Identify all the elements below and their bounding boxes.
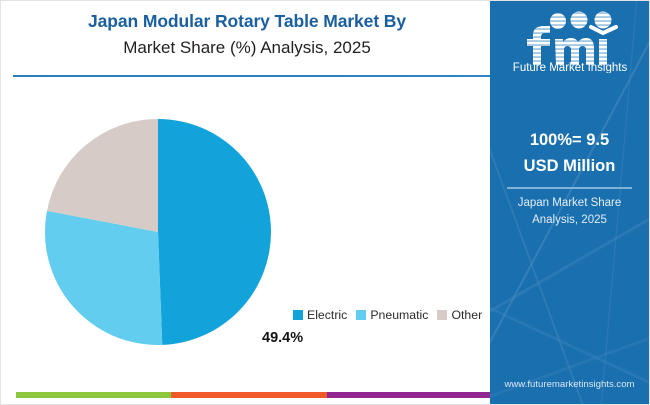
legend-label-electric: Electric [307,309,347,321]
legend-label-other: Other [451,309,482,321]
strip-segment-orange [171,392,327,398]
svg-text:Future Market Insights: Future Market Insights [512,62,627,73]
total-stat: 100%= 9.5 USD Million [490,127,649,179]
pie-slice-group [45,119,271,345]
panel-subtitle: Japan Market Share Analysis, 2025 [490,195,649,229]
legend-item-pneumatic[interactable]: Pneumatic [356,309,428,321]
bottom-color-strip [16,392,492,398]
total-stat-line-2: USD Million [490,153,649,179]
pie-chart-svg [44,118,272,346]
total-stat-line-1: 100%= 9.5 [490,127,649,153]
chart-page: Japan Modular Rotary Table Market By Mar… [0,0,650,405]
panel-subtitle-line-2: Analysis, 2025 [490,212,649,229]
strip-segment-purple [327,392,492,398]
strip-segment-green [16,392,171,398]
legend-label-pneumatic: Pneumatic [370,309,428,321]
pie-slice-electric[interactable] [158,119,271,345]
chart-header: Japan Modular Rotary Table Market By Mar… [1,1,493,77]
page-title-line-2: Market Share (%) Analysis, 2025 [1,34,493,62]
legend-swatch-electric [293,310,303,320]
panel-subtitle-line-1: Japan Market Share [490,195,649,212]
chart-legend: Electric Pneumatic Other [293,309,482,321]
branding-panel: Future Market Insights 100%= 9.5 USD Mil… [490,1,649,405]
legend-swatch-pneumatic [356,310,366,320]
page-title-line-1: Japan Modular Rotary Table Market By [1,8,493,34]
website-url[interactable]: www.futuremarketinsights.com [490,379,649,390]
legend-item-electric[interactable]: Electric [293,309,347,321]
legend-swatch-other [437,310,447,320]
pie-chart: 49.4% [44,118,272,346]
pie-slice-pneumatic[interactable] [45,211,162,345]
pie-slice-label-electric: 49.4% [262,330,303,346]
fmi-logo-icon: Future Market Insights [511,11,629,73]
panel-divider [507,187,632,189]
pie-chart-area: 49.4% Electric Pneumatic Other [1,77,493,387]
fmi-logo: Future Market Insights [490,11,649,73]
legend-item-other[interactable]: Other [437,309,482,321]
